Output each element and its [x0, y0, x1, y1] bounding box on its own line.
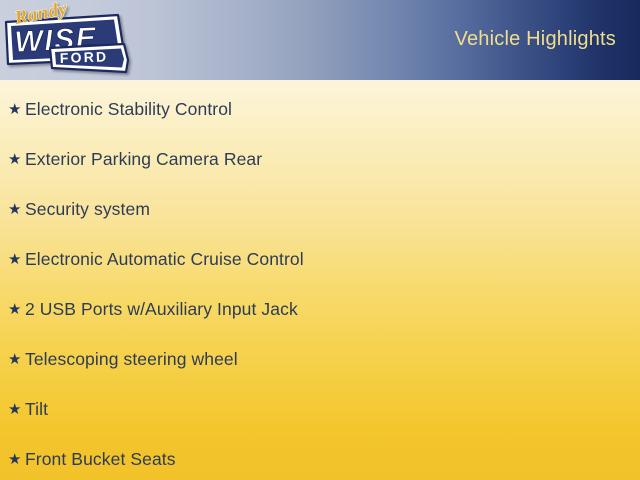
list-item: ★ Telescoping steering wheel: [8, 346, 238, 372]
feature-label: Security system: [25, 199, 150, 220]
star-icon: ★: [8, 102, 25, 117]
page-title: Vehicle Highlights: [455, 28, 616, 51]
star-icon: ★: [8, 252, 25, 267]
star-icon: ★: [8, 302, 25, 317]
vehicle-highlights-list: ★ Electronic Stability Control ★ Exterio…: [0, 80, 640, 480]
star-icon: ★: [8, 152, 25, 167]
list-item: ★ Front Bucket Seats: [8, 446, 176, 472]
star-icon: ★: [8, 202, 25, 217]
feature-label: Electronic Automatic Cruise Control: [25, 249, 304, 270]
list-item: ★ Tilt: [8, 396, 48, 422]
star-icon: ★: [8, 452, 25, 467]
feature-label: Electronic Stability Control: [25, 99, 232, 120]
list-item: ★ 2 USB Ports w/Auxiliary Input Jack: [8, 296, 298, 322]
svg-text:FORD: FORD: [60, 48, 109, 66]
page-header: WISE FORD Randy Vehicle Highlights: [0, 0, 640, 80]
list-item: ★ Electronic Automatic Cruise Control: [8, 246, 304, 272]
list-item: ★ Exterior Parking Camera Rear: [8, 146, 262, 172]
feature-label: 2 USB Ports w/Auxiliary Input Jack: [25, 299, 298, 320]
list-item: ★ Electronic Stability Control: [8, 96, 232, 122]
list-item: ★ Security system: [8, 196, 150, 222]
feature-label: Telescoping steering wheel: [25, 349, 238, 370]
feature-label: Tilt: [25, 399, 48, 420]
feature-label: Front Bucket Seats: [25, 449, 176, 470]
feature-label: Exterior Parking Camera Rear: [25, 149, 262, 170]
vehicle-highlights-page: WISE FORD Randy Vehicle Highlights ★ Ele…: [0, 0, 640, 480]
randy-wise-ford-logo: WISE FORD Randy: [0, 2, 136, 78]
star-icon: ★: [8, 402, 25, 417]
star-icon: ★: [8, 352, 25, 367]
